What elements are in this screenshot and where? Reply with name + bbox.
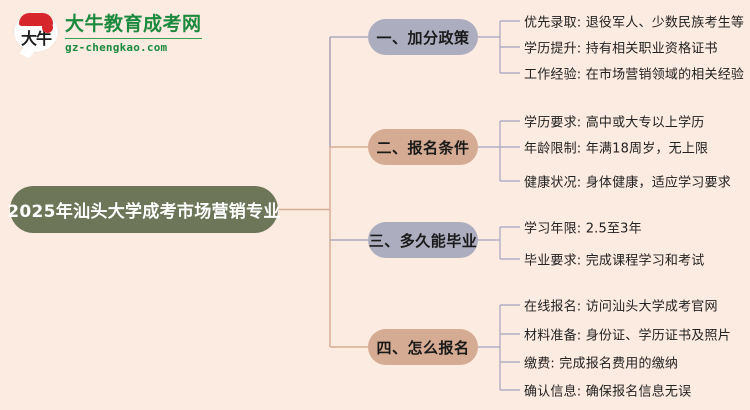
- branch-node-1[interactable]: 一、加分政策: [368, 19, 478, 55]
- branch-node-2[interactable]: 二、报名条件: [368, 129, 478, 165]
- branch-node-3[interactable]: 三、多久能毕业: [368, 222, 478, 258]
- center-topic-node[interactable]: 2025年汕头大学成考市场营销专业: [10, 186, 278, 233]
- branch-node-4[interactable]: 四、怎么报名: [368, 329, 478, 365]
- mindmap-canvas: 大牛 大牛教育成考网 gz-chengkao.com 2025年汕头大学成考市场…: [0, 0, 750, 410]
- logo-red-dot: [42, 22, 53, 33]
